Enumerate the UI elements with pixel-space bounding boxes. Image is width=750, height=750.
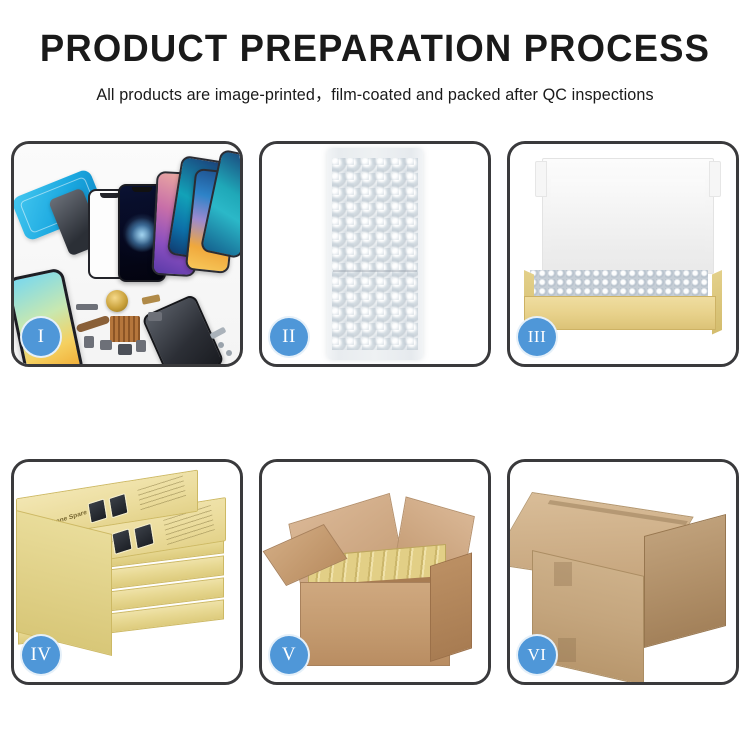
step-badge-4: IV [20, 634, 62, 676]
small-part-icon [76, 304, 98, 310]
copper-grid-part-icon [110, 316, 140, 342]
carton-side-face-icon [430, 552, 472, 662]
step-panel-5[interactable]: V [259, 459, 491, 685]
screw-icon [210, 327, 227, 340]
step-badge-5: V [268, 634, 310, 676]
step-panel-1[interactable]: I [11, 141, 243, 367]
carton-side-face-icon [644, 514, 726, 648]
small-part-icon [84, 336, 94, 348]
stack-left-face [16, 510, 112, 656]
page-title: PRODUCT PREPARATION PROCESS [15, 30, 735, 70]
phone-notch-icon [100, 193, 120, 198]
small-part-icon [148, 312, 162, 321]
bubble-wrapped-contents-icon [530, 270, 708, 298]
small-part-icon [100, 340, 112, 350]
bubble-pattern-highlight-icon [332, 158, 418, 350]
lid-inner-shade [551, 179, 705, 253]
screw-icon [226, 350, 232, 356]
step-badge-2: II [268, 316, 310, 358]
vibration-motor-icon [106, 290, 128, 312]
step-badge-6: VI [516, 634, 558, 676]
step-badge-3: III [516, 316, 558, 358]
step-panel-3[interactable]: III [507, 141, 739, 367]
step-panel-6[interactable]: VI [507, 459, 739, 685]
wrap-seam-icon [333, 270, 417, 272]
small-part-icon [141, 294, 160, 305]
step-badge-1: I [20, 316, 62, 358]
small-part-icon [118, 344, 132, 355]
page-subtitle: All products are image-printed，film-coat… [8, 81, 743, 105]
flex-cable-icon [76, 315, 111, 333]
process-steps-grid: I II III [11, 141, 739, 685]
white-box-lid-icon [542, 158, 714, 274]
page-header: PRODUCT PREPARATION PROCESS All products… [0, 0, 750, 105]
bubble-wrap-sheet [327, 148, 423, 360]
screw-icon [218, 342, 224, 348]
small-part-icon [136, 340, 146, 352]
carton-tab-icon [554, 562, 572, 586]
carton-front-face-icon [300, 582, 450, 666]
step-panel-4[interactable]: Mobile Phone Spare Parts Mobile Phone Sp… [11, 459, 243, 685]
step-panel-2[interactable]: II [259, 141, 491, 367]
phone-notch-icon [132, 187, 152, 192]
carton-tab-icon [558, 638, 576, 662]
phone-housing-icon [141, 293, 225, 364]
